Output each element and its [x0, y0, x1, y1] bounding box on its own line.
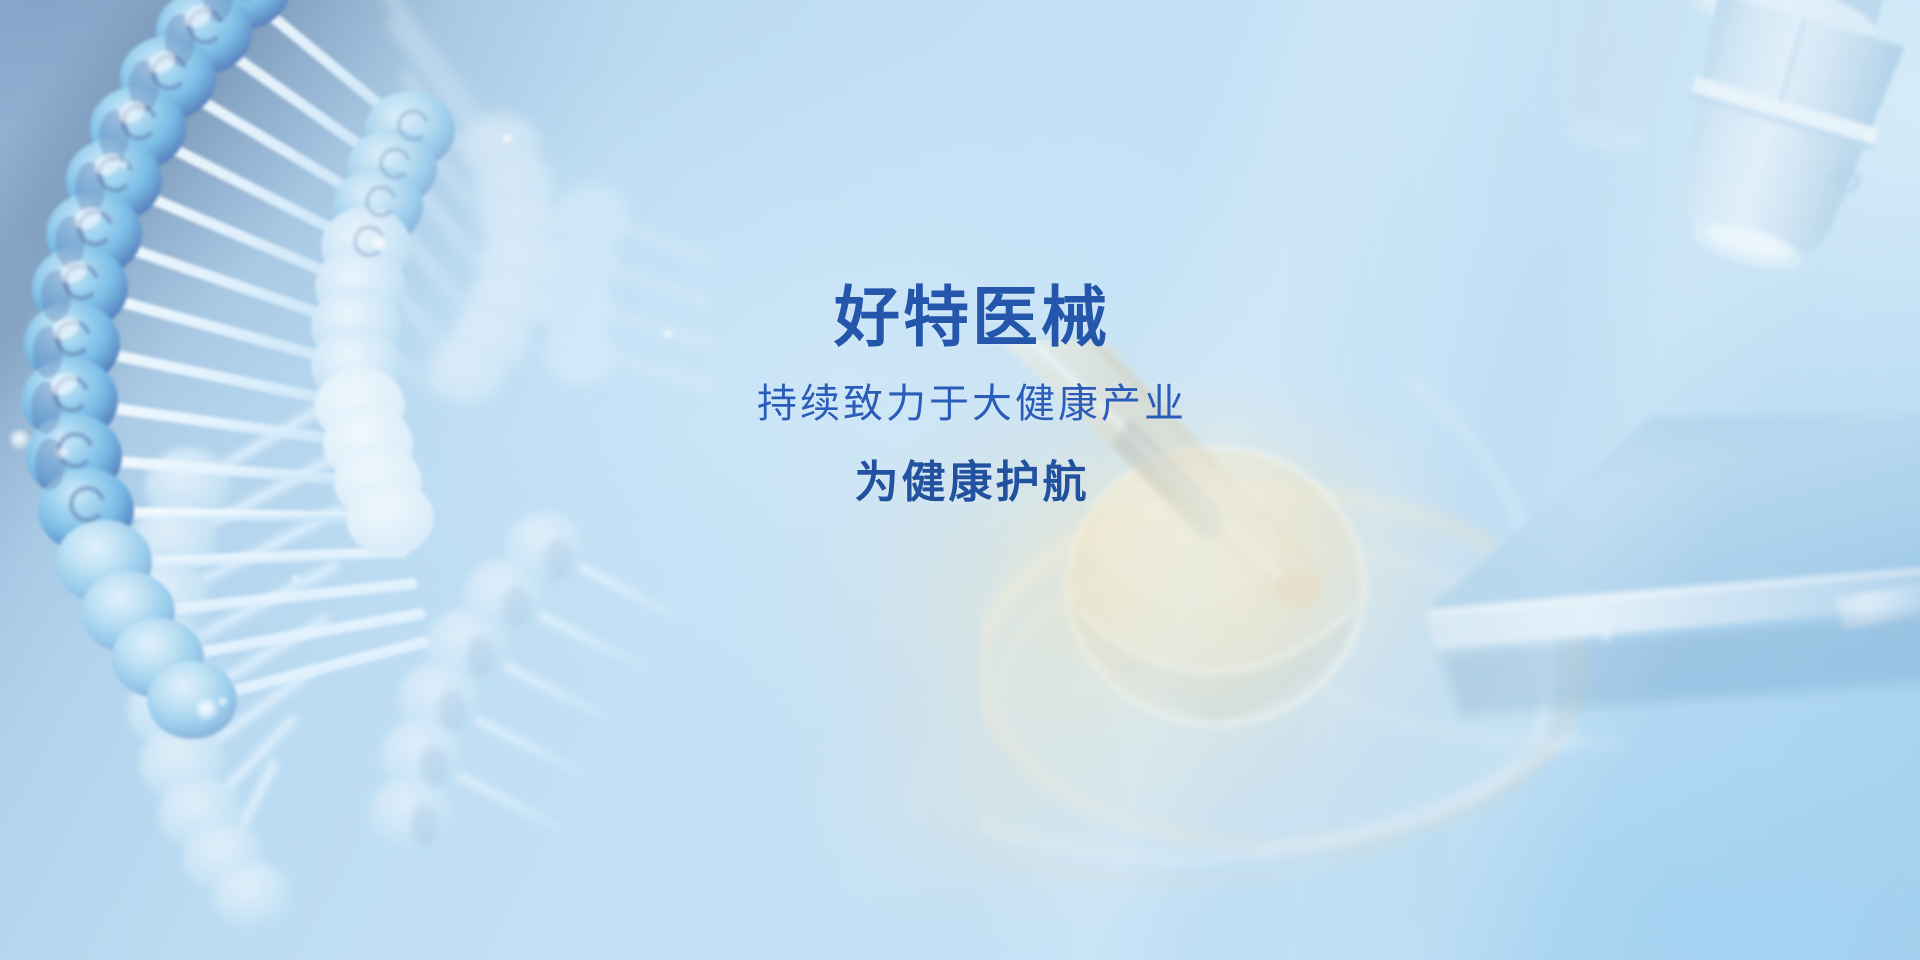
bokeh-speck — [292, 575, 300, 583]
company-subtitle: 持续致力于大健康产业 — [24, 384, 1920, 424]
hero-text-block: 好特医械 持续致力于大健康产业 为健康护航 — [0, 284, 1920, 505]
glassware-outer-vessel — [980, 494, 1580, 846]
bokeh-speck — [196, 699, 218, 721]
bokeh-speck — [218, 697, 228, 707]
bokeh-speck — [120, 160, 129, 169]
glassware-secondary-curve — [980, 730, 1580, 881]
bokeh-speck — [502, 133, 513, 144]
microscope-magnification-label: 40 — [1821, 157, 1866, 202]
company-title: 好特医械 — [24, 284, 1920, 350]
company-tagline: 为健康护航 — [24, 461, 1920, 505]
bokeh-speck — [372, 236, 387, 251]
hero-banner: 40 — [0, 0, 1920, 960]
dna-lower-right-strand — [370, 512, 682, 852]
